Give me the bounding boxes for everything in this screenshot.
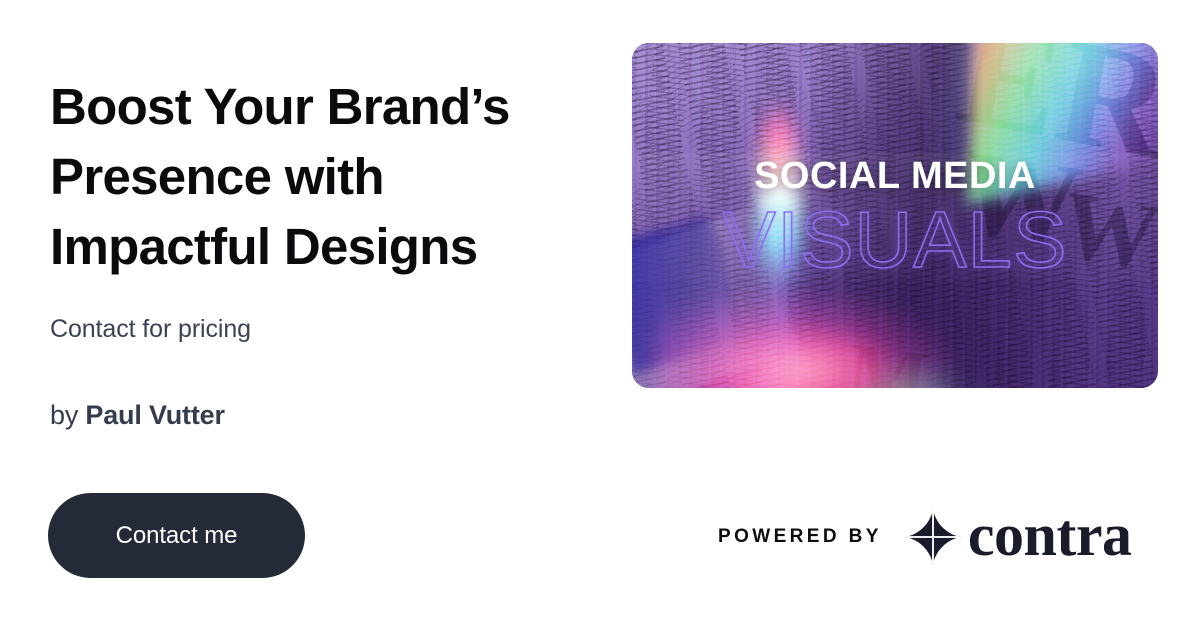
offer-details: Boost Your Brand’s Presence with Impactf… (50, 72, 610, 344)
contact-me-button[interactable]: Contact me (48, 493, 305, 578)
thumbnail-title-line-1: SOCIAL MEDIA (754, 157, 1036, 195)
price-text: Contact for pricing (50, 315, 610, 344)
powered-by-contra[interactable]: POWERED BY contra (718, 506, 1131, 568)
page-title: Boost Your Brand’s Presence with Impactf… (50, 72, 610, 282)
byline-author: Paul Vutter (85, 400, 224, 430)
project-thumbnail-card[interactable]: ER W W M SOCIAL MEDIA VISUALS (632, 43, 1158, 388)
share-card-page: Boost Your Brand’s Presence with Impactf… (0, 0, 1200, 630)
byline: by Paul Vutter (50, 400, 225, 431)
thumbnail-title-block: SOCIAL MEDIA VISUALS (632, 43, 1158, 388)
powered-by-label: POWERED BY (718, 526, 882, 548)
thumbnail-title-line-2: VISUALS (723, 201, 1068, 279)
byline-prefix: by (50, 400, 85, 430)
contra-wordmark: contra (968, 505, 1132, 565)
four-pointed-star-icon (904, 508, 962, 566)
